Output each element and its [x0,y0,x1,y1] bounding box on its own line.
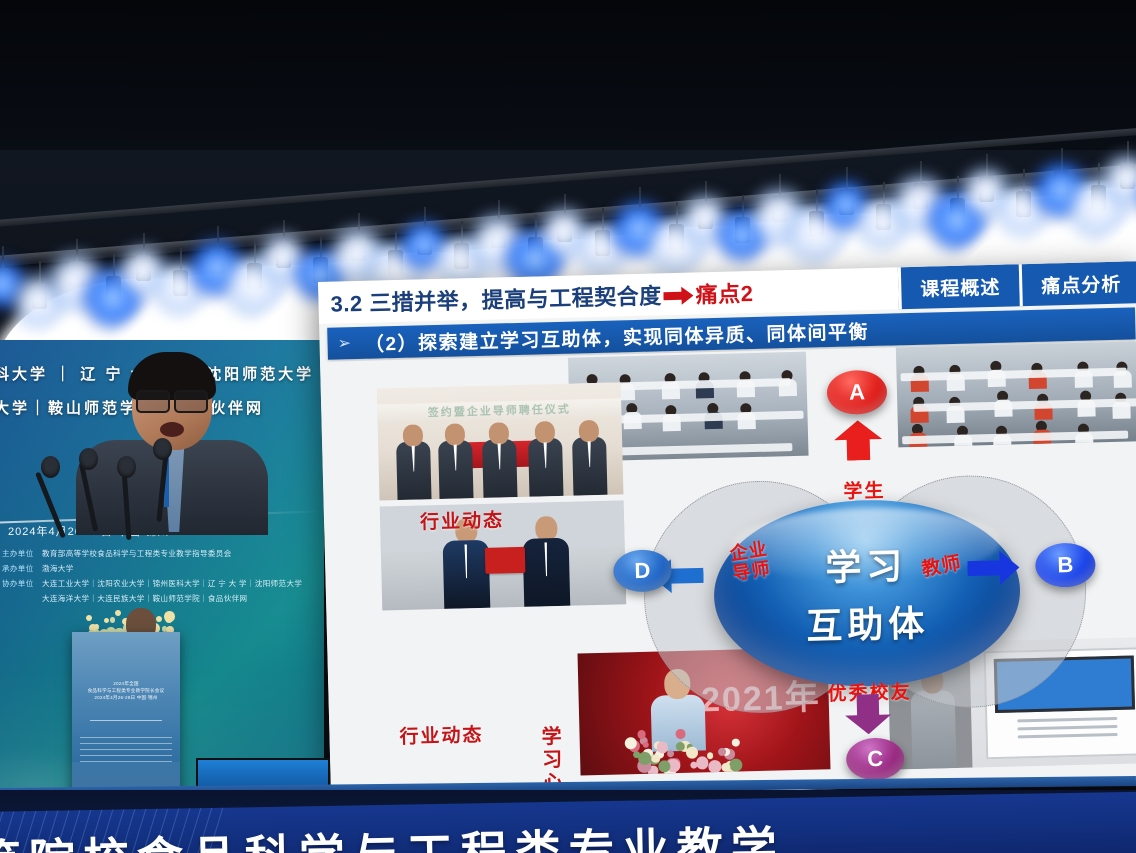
bouquet-flower [707,752,714,759]
podium-title-line: 食品科学与工程类专业教学院长会议 [78,687,174,694]
ceremony-person [482,439,517,498]
ceremony-person-shirt [447,444,464,470]
stage-spotlight [412,233,436,257]
ceremony-person-head [445,423,466,445]
ceremony-person-head [535,421,556,443]
screenshot-root: 科大学 ｜ 辽 宁 大 学 ｜ 沈阳师范大学 大学｜鞍山师范学院｜食品伙伴网 2… [0,0,1136,853]
microphone-head [153,438,172,460]
ceremony-person [438,440,473,499]
ceremony-person-head [489,422,510,444]
bouquet-flower [675,729,685,739]
podium-divider [90,720,162,721]
ceremony-person [572,437,607,496]
tab-pain-point-analysis[interactable]: 痛点分析 [1019,261,1136,306]
lecture-room-board-text [1017,712,1118,744]
ceiling-dark [0,0,1136,160]
signing-people [377,382,621,388]
flower [86,615,92,621]
handshake-certificate [485,547,526,574]
badge-b: B [1035,542,1096,588]
main-projection-screen: 3.2 三措并举，提高与工程契合度 痛点2 课程概述 痛点分析 ➢ （2）探索建… [318,261,1136,802]
bouquet-flower [675,742,684,751]
microphone-head [41,456,60,478]
right-arrow-icon [663,285,694,312]
slide-title-text: 3.2 三措并举，提高与工程契合度 [330,283,662,316]
ceremony-person-head [403,424,424,446]
bouquet-flower [686,747,698,759]
podium-title-line: 2024年全国 [78,680,174,687]
organizer-label: 主办单位 [2,546,42,561]
microphone-head [117,456,136,478]
ceremony-person [396,441,431,500]
stage-spotlight [271,246,295,270]
speaker-mouth [160,422,184,437]
stage-spotlight [974,180,998,204]
organizer-label: 协办单位 [2,576,42,591]
ceremony-person-shirt [491,443,508,469]
podium-banner: 2024年全国食品科学与工程类专业教学院长会议2024年4月26-28日 中国·… [72,632,180,810]
handshake-person [522,516,570,607]
left-screen-organizers: 主办单位教育部高等学校食品科学与工程类专业教学指导委员会承办单位渤海大学协办单位… [2,546,322,606]
organizer-row: 主办单位教育部高等学校食品科学与工程类专业教学指导委员会 [2,546,322,561]
tab-course-overview[interactable]: 课程概述 [898,264,1020,309]
slide-title-highlight: 痛点2 [695,281,753,307]
organizer-label: 承办单位 [2,561,42,576]
badge-c: C [846,737,905,780]
arrow-up-icon [834,420,883,461]
stage-spotlight [834,193,858,217]
ceremony-person-head [579,420,600,442]
stage-spotlight [552,220,576,244]
organizer-row: 承办单位渤海大学 [2,561,322,576]
bouquet-flower [642,742,648,748]
photo-2021-bouquet [623,727,744,774]
ceremony-person-shirt [537,442,554,468]
organizer-row: 大连海洋大学｜大连民族大学｜鞍山师范学院｜食品伙伴网 [2,591,322,606]
podium-banner-title: 2024年全国食品科学与工程类专业教学院长会议2024年4月26-28日 中国·… [78,680,174,701]
photo-signing-ceremony: 签约暨企业导师聘任仪式 [377,382,624,500]
bouquet-flower [729,758,743,772]
ceremony-person-shirt [581,441,598,467]
bouquet-flower [732,739,740,747]
bouquet-flower [667,750,674,757]
core-label-line-2: 互助体 [714,592,1021,652]
photo-classroom-students [896,341,1136,447]
stage-spotlight [131,259,155,283]
podium-title-line: 2024年4月26-28日 中国·锦州 [78,694,174,701]
slide-title: 3.2 三措并举，提高与工程契合度 痛点2 [330,276,754,320]
microphone-head [79,448,98,470]
stage-spotlight [1115,167,1136,191]
speaker-glasses [136,390,208,410]
photo-desk [902,430,1128,444]
slide-tab-bar: 课程概述 痛点分析 [898,261,1136,309]
bullet-arrow-icon: ➢ [337,333,351,353]
ceremony-person-shirt [405,445,422,471]
caption-industry-news-bottom: 行业动态 [399,720,484,749]
ceremony-person [528,438,563,497]
organizer-row: 协办单位大连工业大学｜沈阳农业大学｜锦州医科大学｜辽 宁 大 学｜沈阳师范大学 [2,576,322,591]
caption-industry-news-top: 行业动态 [420,505,505,534]
bouquet-flower [708,760,721,773]
slide-canvas: 签约暨企业导师聘任仪式 2021年 [320,341,1136,802]
stage-spotlight [693,207,717,231]
label-enterprise-mentors: 企业导师 [728,539,771,584]
badge-a: A [826,370,887,416]
